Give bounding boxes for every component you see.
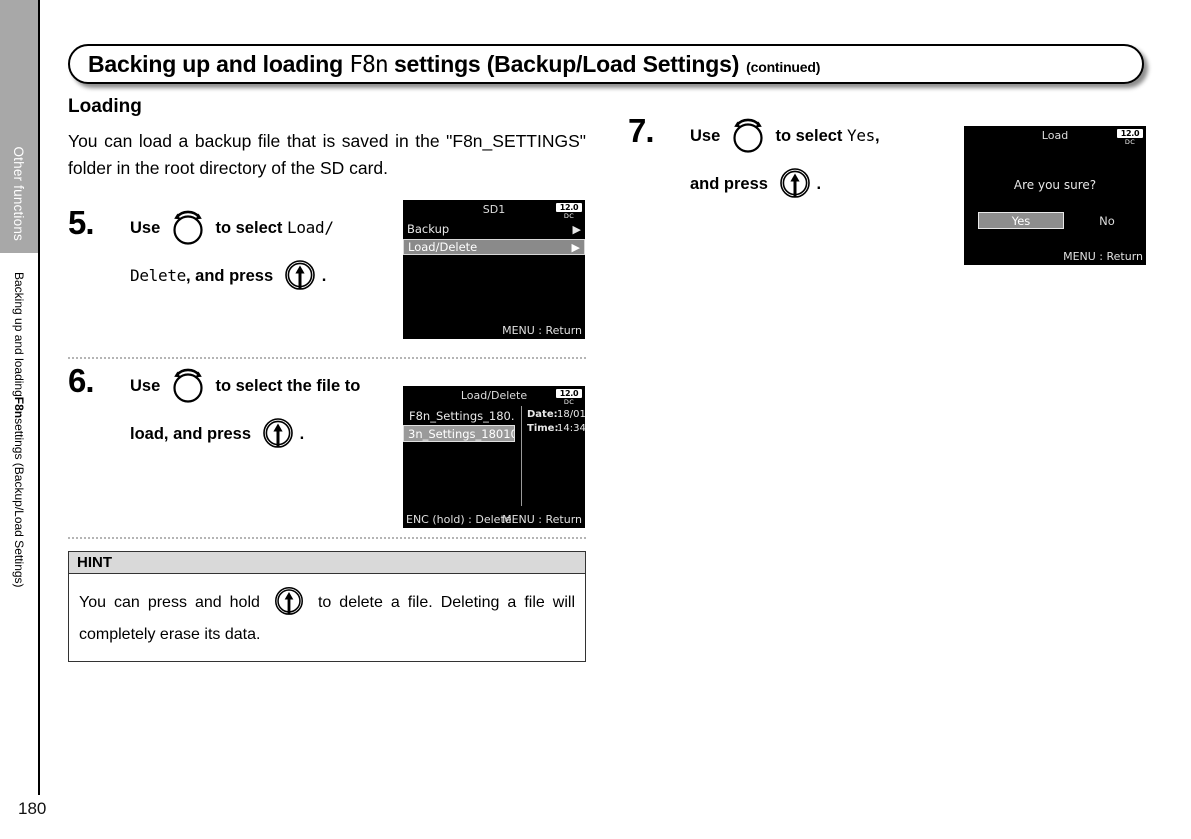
screen-footer-return: MENU : Return: [502, 513, 582, 526]
press-icon: [282, 255, 318, 293]
battery-voltage: 12.0: [556, 203, 582, 212]
metadata-time-row: Time:14:34:11: [527, 422, 585, 436]
list-item[interactable]: 3n_Settings_180102: [403, 425, 515, 442]
hint-heading: HINT: [69, 552, 585, 574]
dial-icon: [169, 205, 207, 245]
confirm-yes-button[interactable]: Yes: [978, 212, 1064, 229]
page-title-pre: Backing up and loading: [88, 51, 349, 77]
section-divider-2: [68, 537, 586, 539]
sidebar-chapter-tab: Other functions: [0, 0, 38, 253]
metadata-date-row: Date:18/01/01: [527, 408, 585, 422]
sidebar-chapter-label: Other functions: [0, 0, 38, 253]
list-item[interactable]: F8n_Settings_180..: [403, 408, 515, 425]
step-6-press-label: load, and press: [130, 425, 251, 443]
section-divider-1: [68, 357, 586, 359]
page-title-continued: (continued): [746, 59, 820, 75]
sidebar-section-model: F8n: [12, 397, 26, 418]
panel-divider: [521, 406, 522, 506]
page-number: 180: [18, 799, 46, 819]
page-title-post: settings (Backup/Load Settings): [388, 51, 739, 77]
step-7-press-label: and press: [690, 175, 768, 193]
step-5-menu-value-2: Delete: [130, 266, 186, 285]
battery-icon: 12.0 DC: [556, 203, 582, 220]
step-7-number: 7.: [628, 112, 654, 150]
step-5-press-label: , and press: [186, 267, 273, 285]
dial-icon: [729, 113, 767, 153]
chevron-right-icon: ▶: [572, 241, 580, 254]
device-screen-load-confirm: Load 12.0 DC Are you sure? Yes No MENU :…: [964, 126, 1146, 265]
battery-voltage: 12.0: [556, 389, 582, 398]
step-7-comma: ,: [875, 127, 880, 145]
hint-box: HINT You can press and hold to delete a …: [68, 551, 586, 662]
step-6-select-label: to select the file to: [215, 377, 360, 395]
device-screen-sd1: SD1 12.0 DC Backup ▶ Load/Delete ▶ MENU …: [403, 200, 585, 339]
step-7-period: .: [817, 175, 822, 193]
screen-footer-delete: ENC (hold) : Delete: [406, 513, 512, 526]
screen-footer-return: MENU : Return: [502, 324, 582, 337]
battery-icon: 12.0 DC: [1117, 129, 1143, 146]
step-7-use-label: Use: [690, 127, 720, 145]
file-list: F8n_Settings_180.. 3n_Settings_180102: [403, 408, 515, 442]
press-icon: [272, 582, 306, 618]
file-metadata: Date:18/01/01 Time:14:34:11: [527, 408, 585, 436]
sidebar-divider: [38, 0, 40, 795]
page-title: Backing up and loading F8n settings (Bac…: [88, 51, 820, 78]
step-7-select-label: to select: [775, 127, 842, 145]
step-5-use-label: Use: [130, 219, 160, 237]
battery-icon: 12.0 DC: [556, 389, 582, 406]
step-6-number: 6.: [68, 362, 94, 400]
page-title-model: F8n: [349, 52, 388, 78]
hint-text-a: You can press and hold: [79, 594, 260, 611]
menu-item-load-delete[interactable]: Load/Delete ▶: [403, 239, 585, 255]
step-5-number: 5.: [68, 204, 94, 242]
device-screen-load-delete: Load/Delete 12.0 DC F8n_Settings_180.. 3…: [403, 386, 585, 528]
step-5-menu-value-1: Load/: [287, 218, 334, 237]
metadata-time-key: Time:: [527, 422, 557, 436]
sidebar-section-pre: Backing up and loading: [12, 272, 26, 397]
dial-icon: [169, 363, 207, 403]
hint-body: You can press and hold to delete a file.…: [69, 574, 585, 661]
metadata-time-value: 14:34:11: [557, 423, 585, 434]
step-6-use-label: Use: [130, 377, 160, 395]
metadata-date-value: 18/01/01: [557, 409, 585, 420]
battery-voltage: 12.0: [1117, 129, 1143, 138]
metadata-date-key: Date:: [527, 408, 557, 422]
step-6-period: .: [300, 425, 305, 443]
menu-item-label: Load/Delete: [408, 240, 477, 254]
step-7-menu-value: Yes: [847, 126, 875, 145]
confirm-no-button[interactable]: No: [1082, 212, 1132, 229]
menu-item-backup[interactable]: Backup ▶: [403, 221, 585, 237]
battery-unit: DC: [556, 212, 582, 220]
battery-unit: DC: [1117, 138, 1143, 146]
press-icon: [260, 413, 296, 451]
page-header-banner: Backing up and loading F8n settings (Bac…: [68, 44, 1144, 84]
press-icon: [777, 163, 813, 201]
step-5-select-label: to select: [215, 219, 282, 237]
sidebar-section-label: Backing up and loading F8n settings (Bac…: [0, 270, 38, 670]
section-intro-text: You can load a backup file that is saved…: [68, 128, 586, 182]
battery-unit: DC: [556, 398, 582, 406]
section-heading: Loading: [68, 96, 586, 118]
sidebar-section-post: settings (Backup/Load Settings): [12, 418, 26, 587]
chevron-right-icon: ▶: [573, 223, 581, 236]
step-5-period: .: [322, 267, 327, 285]
confirm-question: Are you sure?: [964, 178, 1146, 192]
menu-item-label: Backup: [407, 222, 449, 236]
screen-footer-return: MENU : Return: [1063, 250, 1143, 263]
